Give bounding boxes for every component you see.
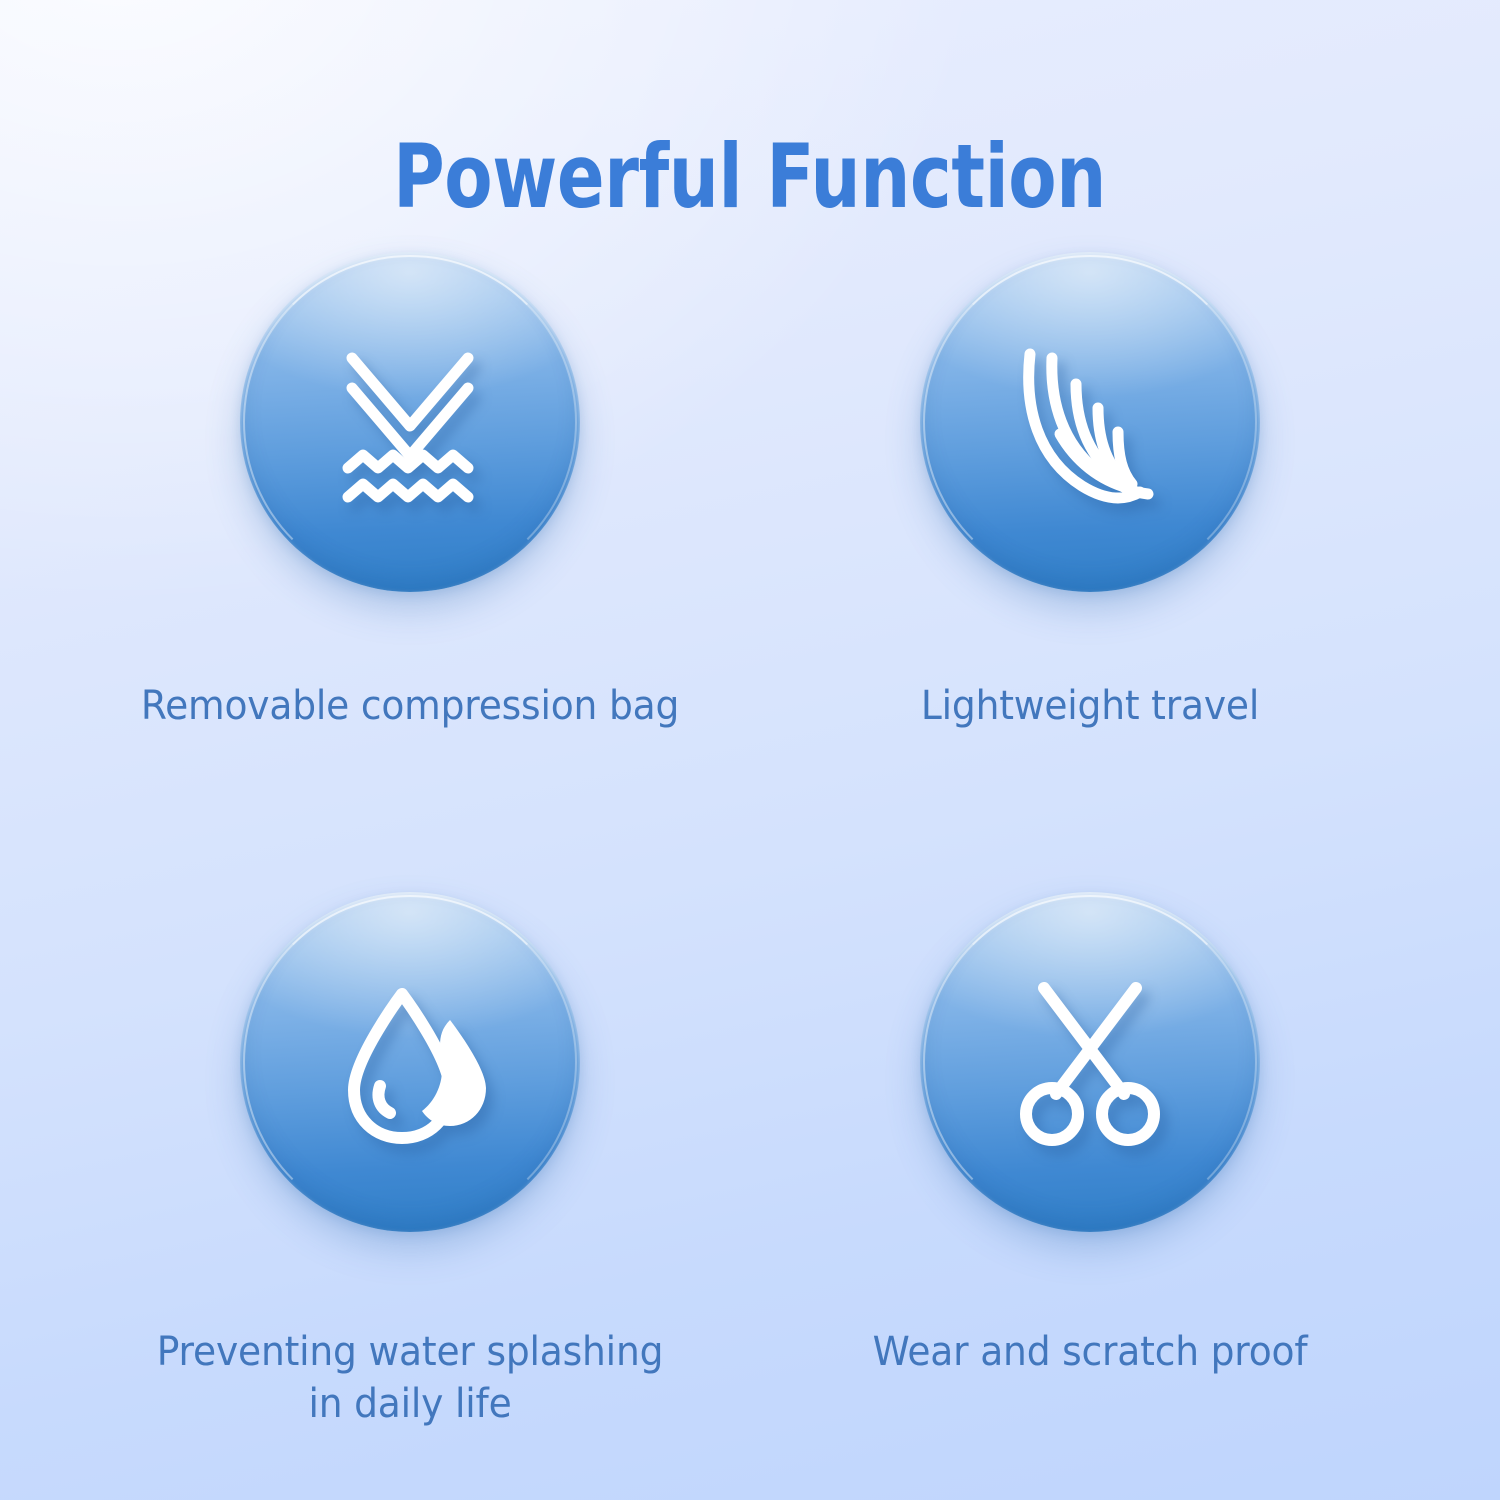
feature-badge (895, 230, 1285, 620)
compression-waves-icon (240, 252, 580, 592)
feature-grid: Removable compression bag (0, 230, 1500, 1500)
feature-caption: Removable compression bag (100, 680, 720, 732)
infographic-page: Powerful Function (0, 0, 1500, 1500)
scissors-icon (920, 892, 1260, 1232)
feature-badge (895, 870, 1285, 1260)
feature-card-scratchproof: Wear and scratch proof (760, 870, 1420, 1378)
feature-badge (215, 870, 605, 1260)
feature-caption: Preventing water splashing in daily life (100, 1326, 720, 1430)
feature-caption: Lightweight travel (780, 680, 1400, 732)
feature-badge (215, 230, 605, 620)
water-drop-icon (240, 892, 580, 1232)
page-title: Powerful Function (394, 131, 1107, 223)
feather-icon (920, 252, 1260, 592)
feature-card-compression: Removable compression bag (80, 230, 740, 732)
feature-card-waterproof: Preventing water splashing in daily life (80, 870, 740, 1430)
feature-caption: Wear and scratch proof (780, 1326, 1400, 1378)
feature-card-lightweight: Lightweight travel (760, 230, 1420, 732)
